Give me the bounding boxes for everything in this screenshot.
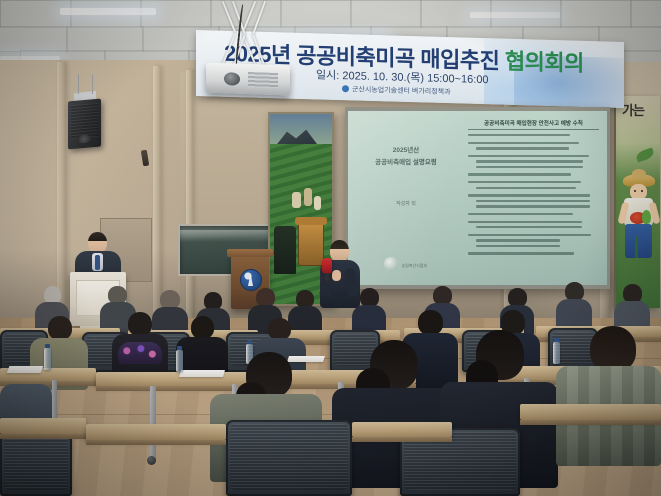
mesh-back-office-chair[interactable] — [226, 420, 352, 496]
organizer-text: 군산시농업기술센터 벼가리정책과 — [352, 86, 451, 96]
wall-speaker-icon — [68, 99, 101, 150]
person-tie — [95, 255, 100, 270]
presenter-head — [330, 240, 349, 262]
water-bottle[interactable] — [44, 348, 51, 370]
handout-document — [7, 366, 44, 373]
handheld-microphone[interactable] — [322, 258, 332, 274]
mural-text: 가는 — [622, 104, 644, 118]
seminar-desk — [520, 404, 661, 420]
banner-organizer: 군산시농업기술센터 벼가리정책과 — [342, 84, 451, 97]
seminar-desk — [0, 418, 86, 434]
mesh-back-office-chair[interactable] — [0, 432, 72, 496]
projector-vent — [248, 72, 278, 88]
attendee — [352, 288, 386, 334]
person-head — [88, 232, 107, 253]
projector-scissor-mount — [222, 0, 278, 72]
farmer-boy-figure — [620, 174, 658, 284]
ceiling-projector — [206, 63, 290, 96]
seminar-desk — [86, 424, 226, 440]
mural-right-panel: 가는 — [614, 96, 660, 308]
conference-room-photo: 가는 2025년 공공비축미곡 매입추진 협의회의 일시: 2025. 10. … — [0, 0, 661, 496]
banner-title-highlight: 협의회의 — [505, 49, 584, 76]
projector-lens-icon — [224, 72, 240, 86]
presenter-hand — [332, 270, 341, 281]
ceiling-light-fixture — [60, 8, 156, 15]
patterned-jacket — [118, 342, 162, 364]
projection-screen-frame: 2025년산 공공비축매입 설명요령 작성자 외 농림축산식품부 공공비축미곡 … — [345, 107, 610, 289]
attendee — [614, 284, 650, 332]
attendee — [556, 282, 592, 330]
attendee-front — [556, 326, 661, 466]
organizer-logo-icon — [342, 85, 349, 92]
water-bottle[interactable] — [176, 350, 183, 372]
seminar-desk — [352, 422, 452, 437]
ceiling-light-fixture — [470, 12, 560, 18]
projection-screen: 2025년산 공공비축매입 설명요령 작성자 외 농림축산식품부 공공비축미곡 … — [348, 111, 607, 285]
